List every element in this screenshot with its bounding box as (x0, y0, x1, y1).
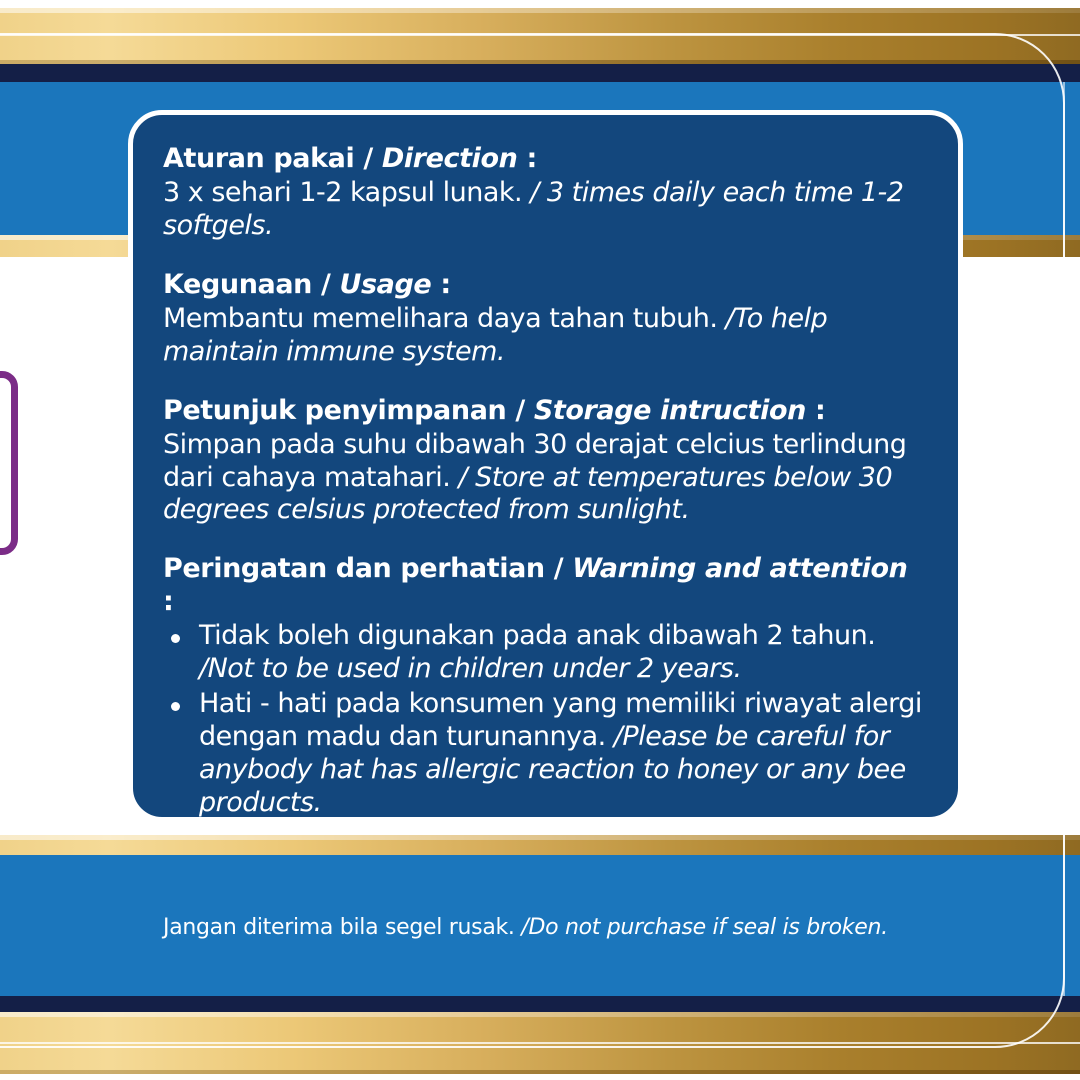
heading-en: Usage (339, 269, 431, 300)
section-storage: Petunjuk penyimpanan / Storage intructio… (163, 395, 926, 528)
heading-id: Aturan pakai (163, 143, 354, 174)
heading-id: Petunjuk penyimpanan (163, 395, 506, 426)
seal-notice: Jangan diterima bila segel rusak. /Do no… (0, 915, 1080, 940)
gold-sheen (0, 8, 1080, 13)
gold-sheen (0, 835, 1080, 840)
heading-colon: : (517, 143, 536, 174)
heading-separator: / (312, 269, 339, 300)
bullet-icon (171, 634, 180, 643)
body-separator: / (726, 303, 735, 334)
section-storage-body: Simpan pada suhu dibawah 30 derajat celc… (163, 429, 926, 528)
warning-list: Tidak boleh digunakan pada anak dibawah … (163, 620, 926, 820)
heading-id: Peringatan dan perhatian (163, 553, 545, 584)
body-id: 3 x sehari 1-2 kapsul lunak. (163, 177, 530, 208)
gold-sheen (0, 1012, 1080, 1017)
purple-accent-box (0, 371, 18, 555)
section-warning: Peringatan dan perhatian / Warning and a… (163, 553, 926, 820)
heading-separator: / (354, 143, 381, 174)
bullet-icon (171, 702, 180, 711)
heading-en: Warning and attention (572, 553, 907, 584)
seal-notice-en: Do not purchase if seal is broken. (528, 915, 887, 940)
heading-en: Storage intruction (534, 395, 806, 426)
section-usage-body: Membantu memelihara daya tahan tubuh. /T… (163, 303, 926, 369)
list-item: Hati - hati pada konsumen yang memiliki … (163, 688, 926, 820)
heading-colon: : (431, 269, 450, 300)
section-storage-heading: Petunjuk penyimpanan / Storage intructio… (163, 395, 926, 428)
heading-id: Kegunaan (163, 269, 312, 300)
body-id: Membantu memelihara daya tahan tubuh. (163, 303, 726, 334)
heading-colon: : (163, 586, 173, 617)
warning-en: Not to be used in children under 2 years… (208, 653, 742, 684)
section-direction-heading: Aturan pakai / Direction : (163, 143, 926, 176)
gold-band-lower-mid (0, 835, 1080, 855)
gold-band-top (0, 8, 1080, 64)
section-direction: Aturan pakai / Direction : 3 x sehari 1-… (163, 143, 926, 243)
heading-colon: : (806, 395, 825, 426)
list-item: Tidak boleh digunakan pada anak dibawah … (163, 620, 926, 686)
gold-hairline (0, 1042, 1080, 1044)
section-usage: Kegunaan / Usage : Membantu memelihara d… (163, 269, 926, 369)
warning-id: Tidak boleh digunakan pada anak dibawah … (199, 620, 875, 651)
section-usage-heading: Kegunaan / Usage : (163, 269, 926, 302)
right-edge-hairline (1063, 82, 1065, 996)
info-card: Aturan pakai / Direction : 3 x sehari 1-… (128, 110, 963, 822)
gold-hairline (0, 34, 1080, 36)
product-label-panel: V VitaminMurah Aturan pakai / Direction … (0, 0, 1080, 1080)
section-direction-body: 3 x sehari 1-2 kapsul lunak. / 3 times d… (163, 177, 926, 243)
body-separator: / (458, 462, 475, 493)
gold-band-bottom (0, 1012, 1080, 1074)
section-warning-heading: Peringatan dan perhatian / Warning and a… (163, 553, 926, 619)
body-separator: / (530, 177, 547, 208)
heading-separator: / (545, 553, 572, 584)
gold-shade (0, 1070, 1080, 1074)
heading-en: Direction (382, 143, 518, 174)
navy-rule-top (0, 64, 1080, 82)
heading-separator: / (506, 395, 533, 426)
warning-separator: / (199, 653, 208, 684)
seal-notice-id: Jangan diterima bila segel rusak. (163, 915, 521, 940)
